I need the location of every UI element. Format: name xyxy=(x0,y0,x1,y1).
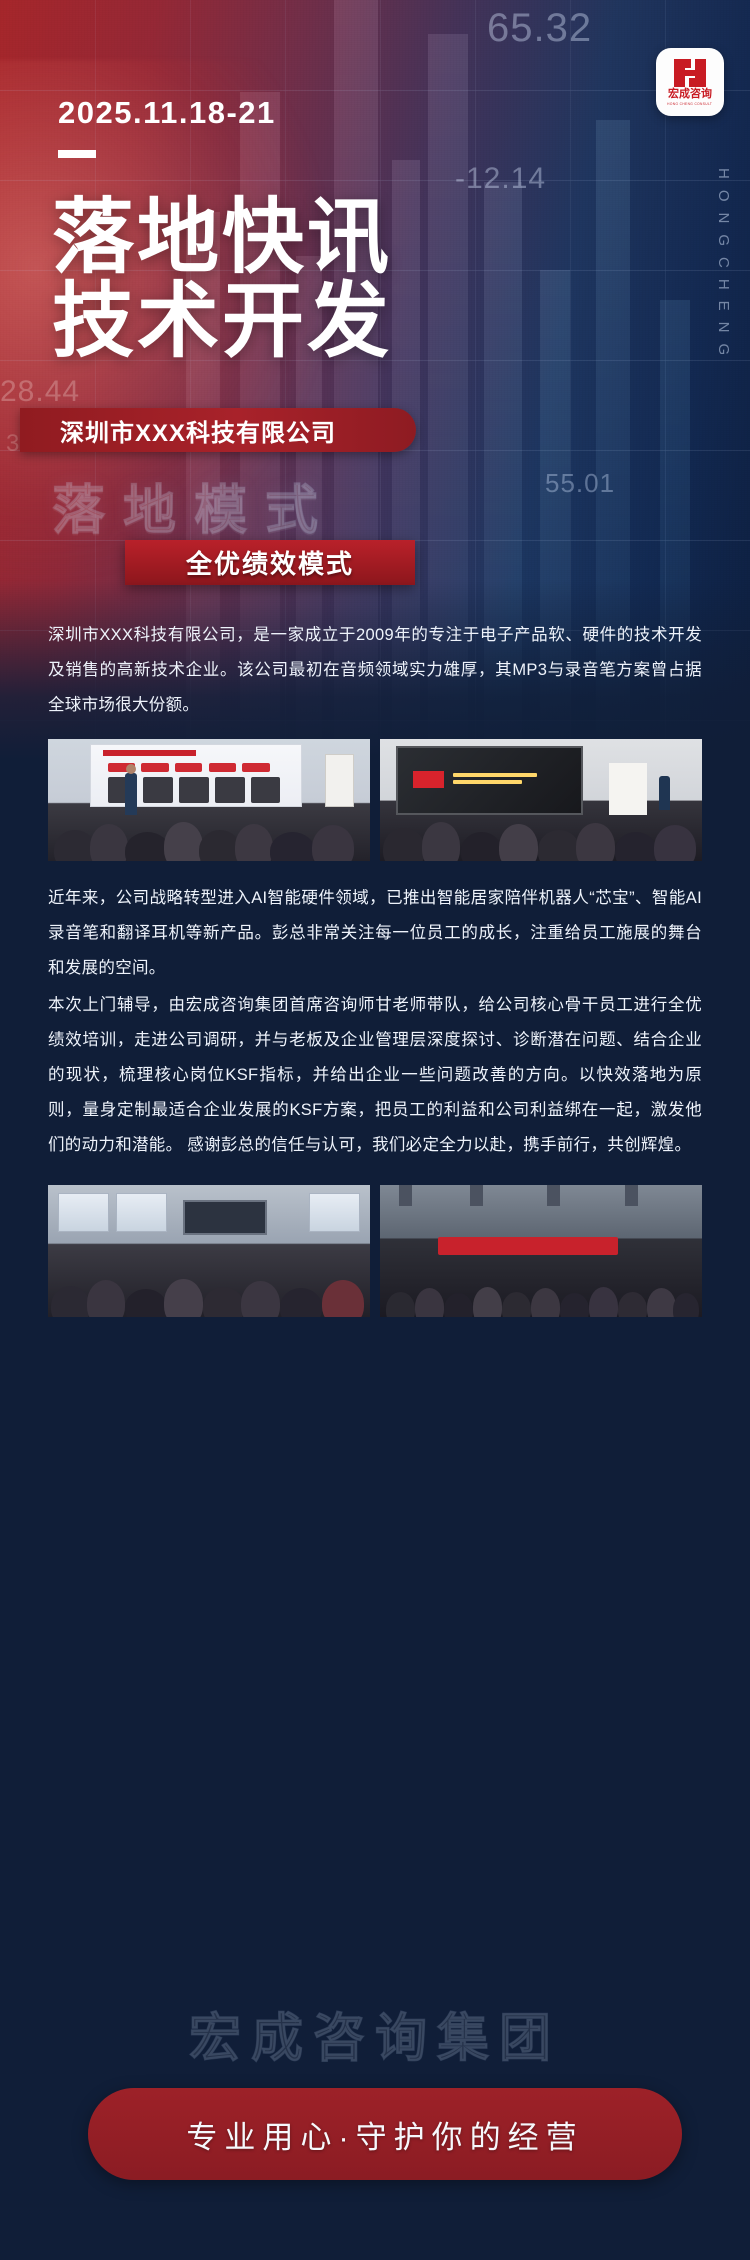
audience-heads xyxy=(48,1243,370,1317)
group-photo xyxy=(380,1185,702,1317)
ghost-mode-text: 落地模式 xyxy=(52,468,702,544)
title-rule xyxy=(58,150,96,158)
paragraph-2: 近年来，公司战略转型进入AI智能硬件领域，已推出智能居家陪伴机器人“芯宝”、智能… xyxy=(48,875,702,986)
footer-slogan: 专业用心·守护你的经营 xyxy=(186,2112,583,2157)
bg-number-3: 28.44 xyxy=(0,375,80,409)
title-line-2: 技术开发 xyxy=(52,280,472,364)
lecture-hall-slide-photo xyxy=(48,739,370,861)
mode-badge: 全优绩效模式 xyxy=(125,540,415,585)
logo-name-cn: 宏成咨询 xyxy=(668,89,712,100)
company-name: 深圳市XXX科技有限公司 xyxy=(60,413,336,448)
footer-section: 宏成咨询集团 专业用心·守护你的经营 xyxy=(0,1980,750,2260)
h-shield-icon xyxy=(674,59,706,87)
page-title: 落地快讯 技术开发 xyxy=(52,196,472,363)
footer-ghost-text: 宏成咨询集团 xyxy=(0,1996,750,2071)
bg-number-2: -12.14 xyxy=(455,162,546,196)
group-heads xyxy=(380,1243,702,1317)
paragraph-3: 本次上门辅导，由宏成咨询集团首席咨询师甘老师带队，给公司核心骨干员工进行全优绩效… xyxy=(48,986,702,1163)
audience-heads xyxy=(48,793,370,861)
title-line-1: 落地快讯 xyxy=(52,196,472,280)
company-name-banner: 深圳市XXX科技有限公司 xyxy=(20,408,416,452)
photo-row-1 xyxy=(48,739,702,861)
photo-row-2 xyxy=(48,1185,702,1317)
audience-heads xyxy=(380,793,702,861)
paragraph-1: 深圳市XXX科技有限公司，是一家成立于2009年的专注于电子产品软、硬件的技术开… xyxy=(48,600,702,723)
brand-logo[interactable]: 宏成咨询 HONG CHENG CONSULT xyxy=(656,48,724,116)
event-date: 2025.11.18-21 xyxy=(58,95,276,131)
logo-name-en: HONG CHENG CONSULT xyxy=(667,102,712,106)
dark-screen-training-photo xyxy=(380,739,702,861)
footer-slogan-pill: 专业用心·守护你的经营 xyxy=(88,2088,682,2180)
classroom-training-photo xyxy=(48,1185,370,1317)
vertical-brand-word: HONGCHENG xyxy=(715,168,732,366)
article-content: 深圳市XXX科技有限公司，是一家成立于2009年的专注于电子产品软、硬件的技术开… xyxy=(0,600,750,1331)
bg-number-1: 65.32 xyxy=(487,6,592,51)
mode-badge-label: 全优绩效模式 xyxy=(186,544,354,581)
